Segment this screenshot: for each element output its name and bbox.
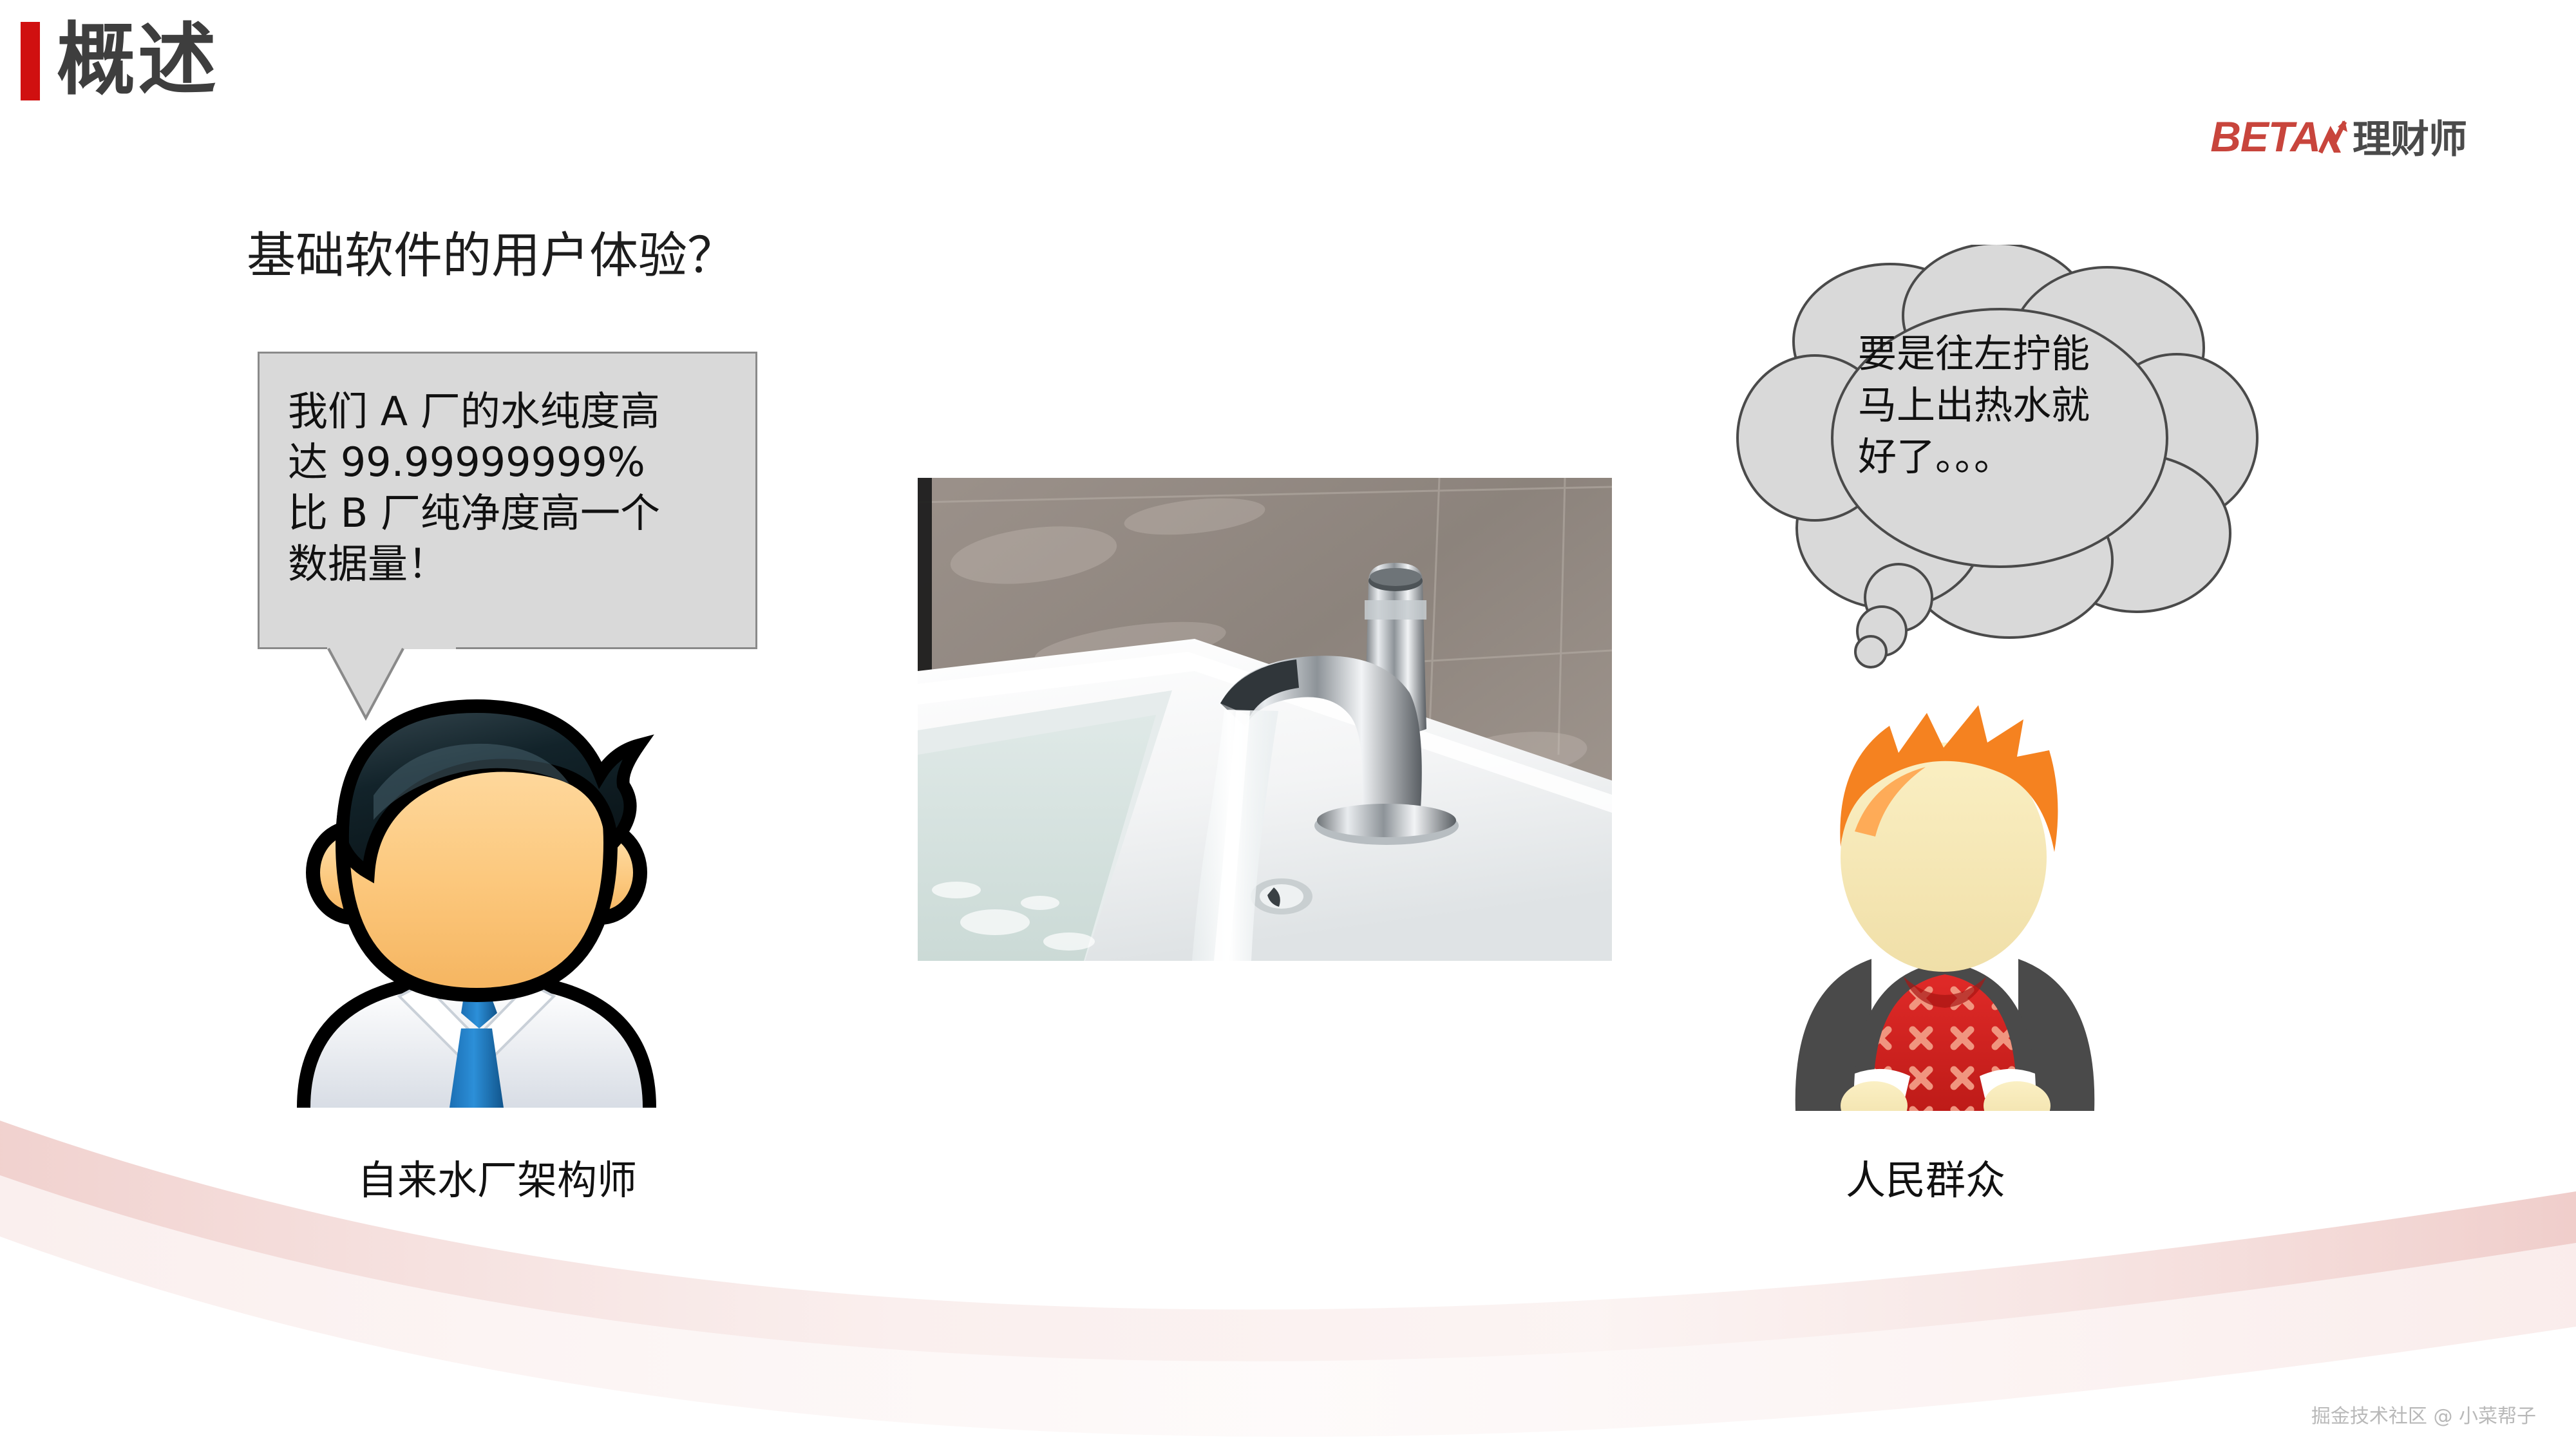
logo-cn-text: 理财师 <box>2353 108 2467 164</box>
slide-canvas: 概述 BETA 理财师 基础软件的用户体验？ 我们 A 厂的水纯度高 达 99.… <box>0 0 2576 1449</box>
businessman-avatar <box>277 686 676 1108</box>
arrow-up-mark-icon <box>2316 115 2350 158</box>
citizen-avatar <box>1777 699 2112 1111</box>
caption-right: 人民群众 <box>1846 1148 2005 1206</box>
title-accent-bar <box>21 22 40 100</box>
watermark: 掘金技术社区 @ 小菜帮子 <box>2311 1400 2536 1428</box>
speech-bubble: 我们 A 厂的水纯度高 达 99.99999999% 比 B 厂纯净度高一个 数… <box>258 352 757 649</box>
speech-bubble-text: 我们 A 厂的水纯度高 达 99.99999999% 比 B 厂纯净度高一个 数… <box>288 386 739 589</box>
brand-logo: BETA 理财师 <box>2210 108 2467 164</box>
faucet-photo <box>918 478 1612 961</box>
question-line: 基础软件的用户体验？ <box>247 216 736 287</box>
logo-beta-text: BETA <box>2210 112 2320 161</box>
thought-bubble-text: 要是往左拧能 马上出热水就 好了。。。 <box>1858 328 2161 483</box>
caption-left: 自来水厂架构师 <box>357 1148 637 1206</box>
page-title: 概述 <box>57 12 219 108</box>
